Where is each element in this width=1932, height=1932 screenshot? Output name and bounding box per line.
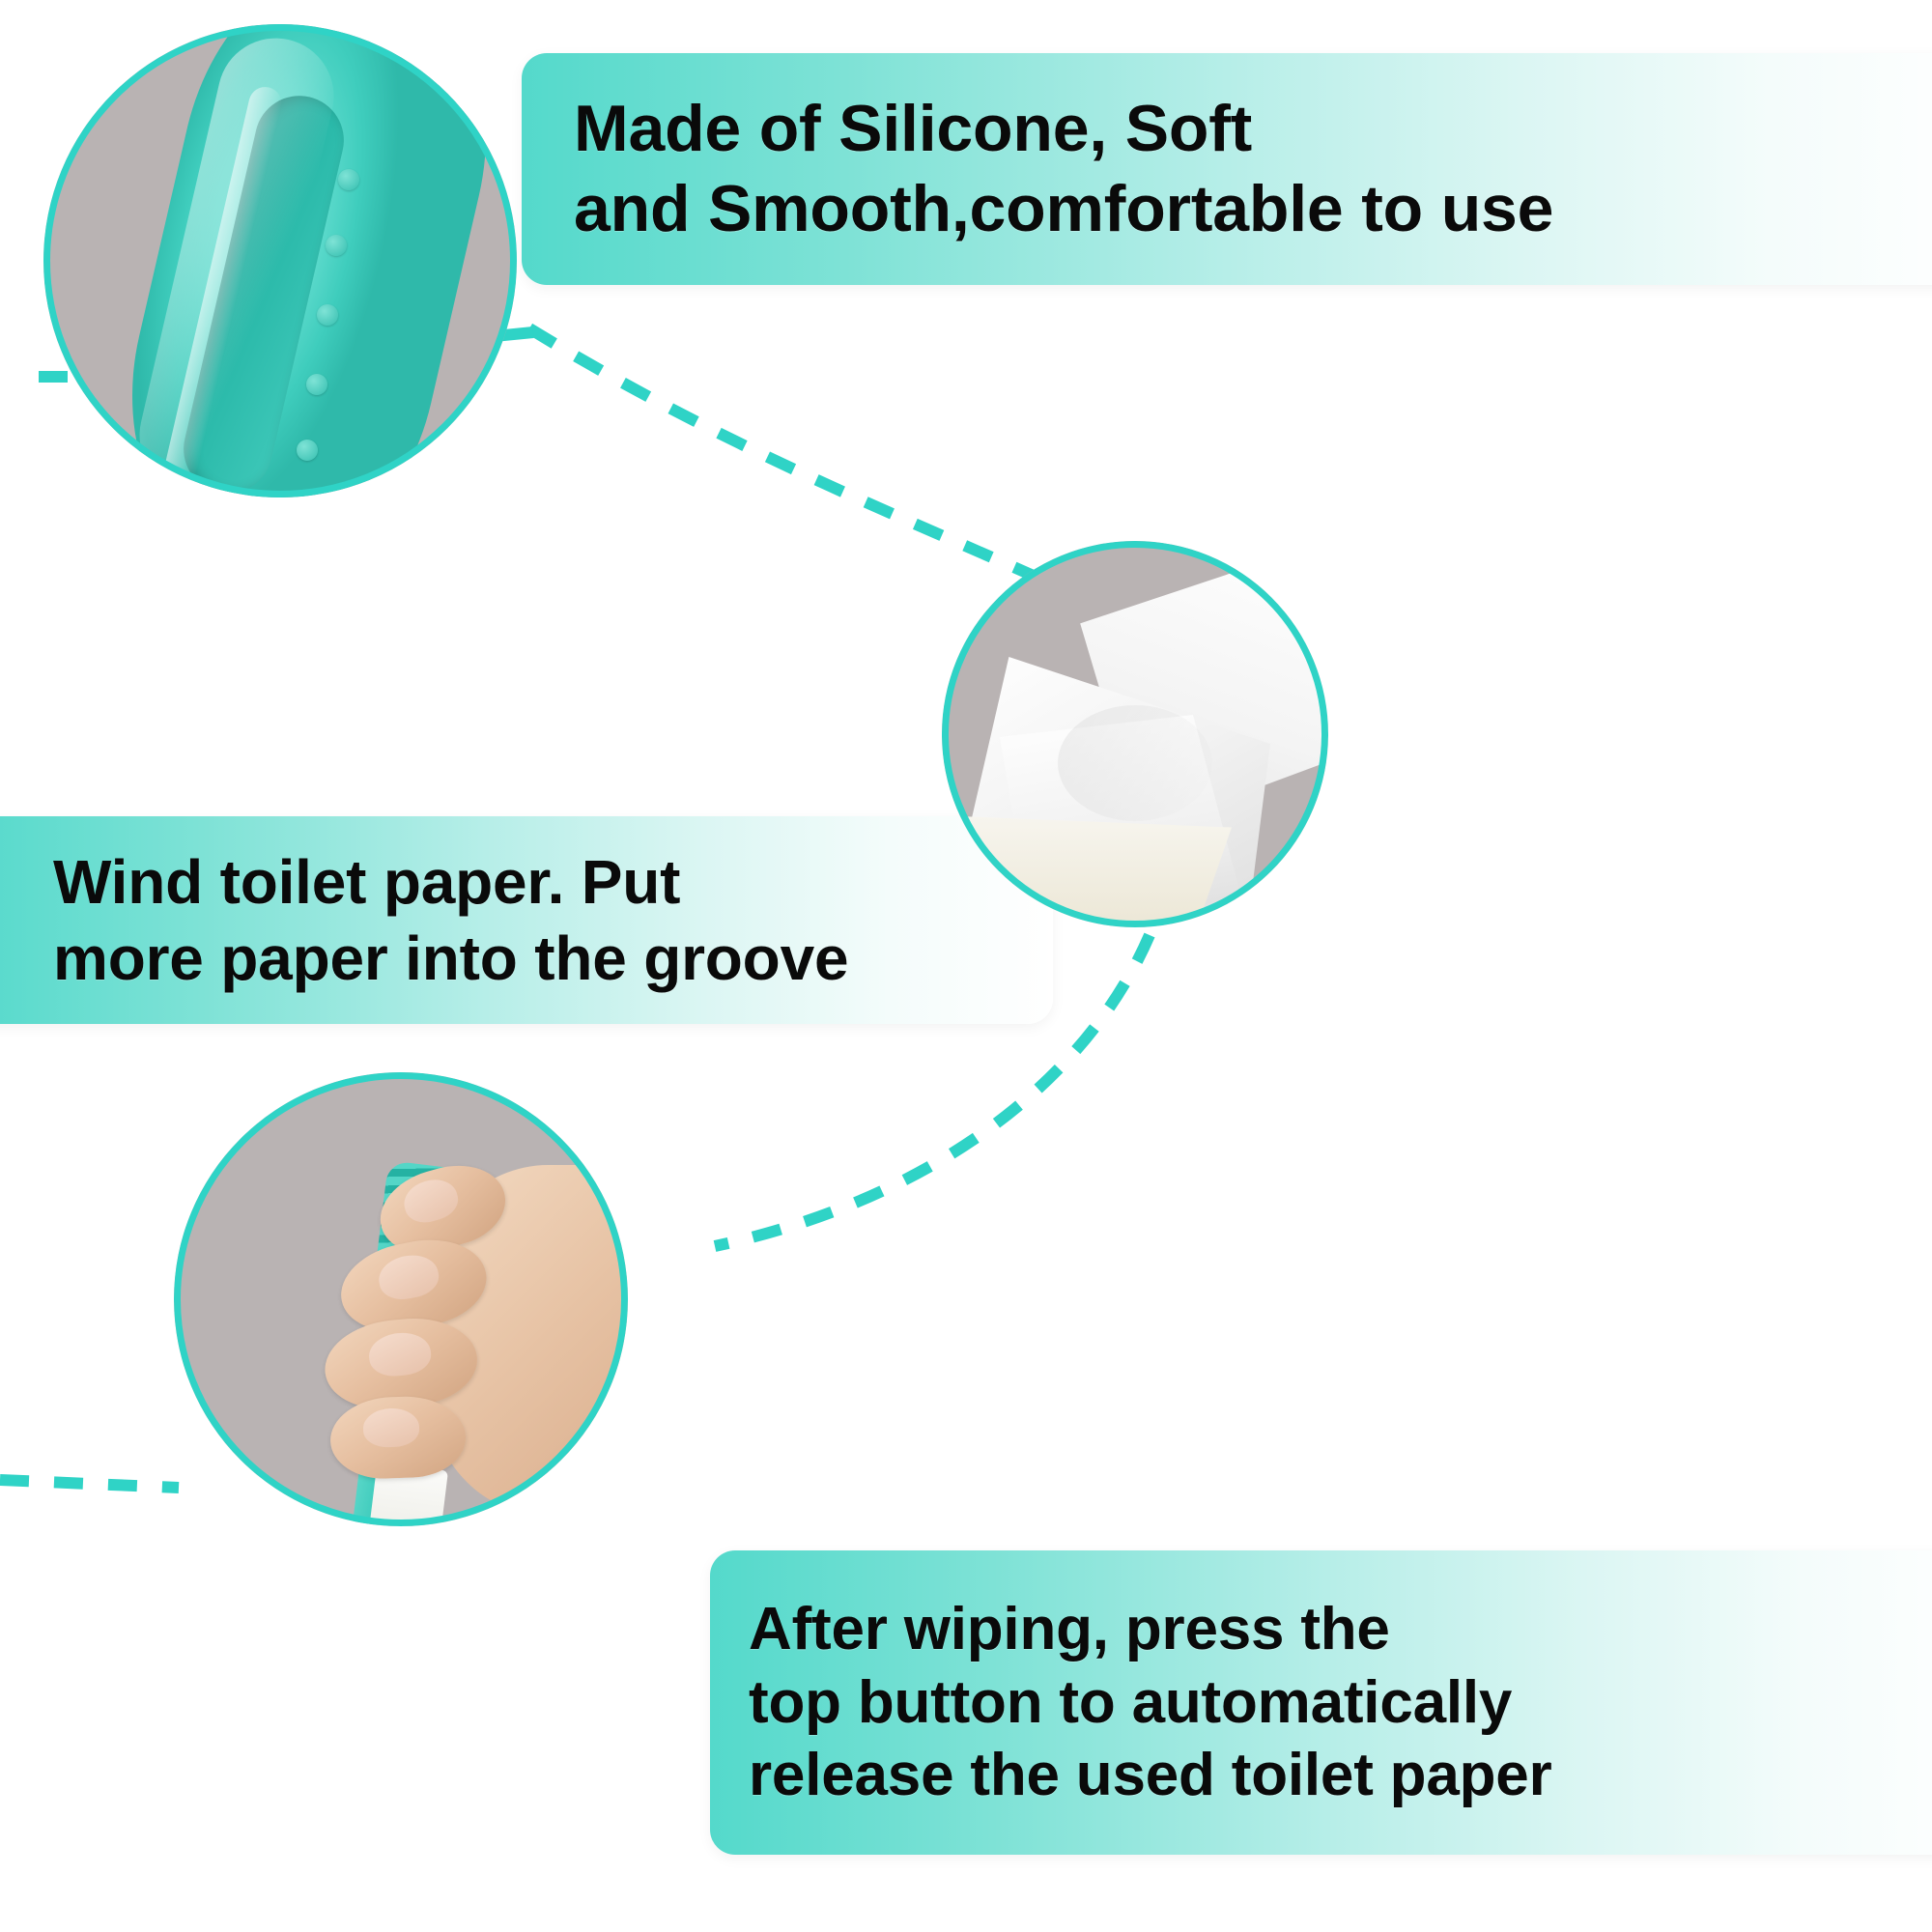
photo-hand-grip	[174, 1072, 628, 1526]
caption-material: Made of Silicone, Soft and Smooth,comfor…	[522, 53, 1932, 285]
infographic-page: Made of Silicone, Soft and Smooth,comfor…	[0, 0, 1932, 1932]
silicone-bump	[306, 374, 327, 395]
silicone-bump	[297, 440, 318, 461]
silicone-bump	[338, 169, 359, 190]
caption-release-paper: After wiping, press the top button to au…	[710, 1550, 1932, 1855]
caption-material-text: Made of Silicone, Soft and Smooth,comfor…	[574, 89, 1553, 249]
silicone-bump	[317, 304, 338, 326]
tissue-fold-shadow	[1058, 705, 1212, 821]
photo-inner-1	[43, 24, 517, 497]
hand-fingernail	[362, 1407, 419, 1448]
photo-silicone-head	[43, 24, 517, 497]
silicone-bump	[326, 235, 347, 256]
caption-wind-paper: Wind toilet paper. Put more paper into t…	[0, 816, 1053, 1024]
photo-tissue-wrap	[942, 541, 1328, 927]
tissue-sheet-bottom	[942, 816, 1232, 927]
caption-wind-paper-text: Wind toilet paper. Put more paper into t…	[53, 844, 848, 995]
connector-stub-left-bottom	[0, 1480, 179, 1488]
caption-release-paper-text: After wiping, press the top button to au…	[749, 1593, 1552, 1812]
photo-inner-3	[174, 1072, 628, 1526]
connector-curve-1-to-2	[529, 328, 1067, 591]
photo-inner-2	[942, 541, 1328, 927]
